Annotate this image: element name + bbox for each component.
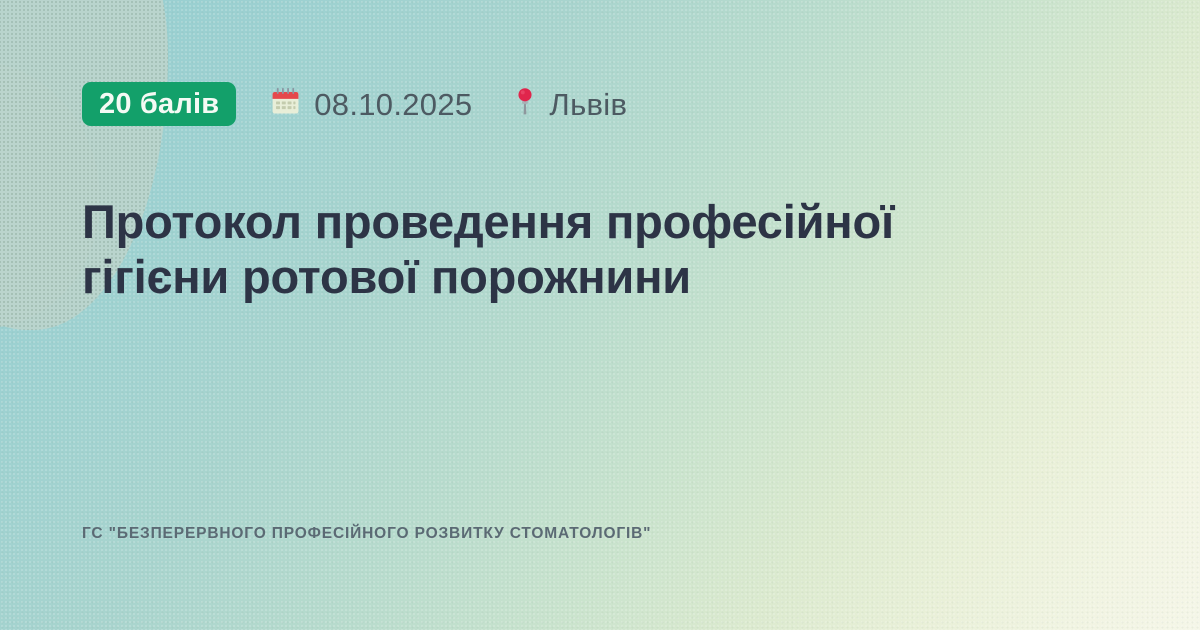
event-title-line-2: гігієни ротової порожнини <box>82 250 691 303</box>
event-location-text: Львів <box>549 89 627 120</box>
meta-row: 20 балів <box>82 80 1120 128</box>
round-pushpin-icon <box>514 86 536 122</box>
title-wrap: Протокол проведення професійноїгігієни р… <box>82 194 1120 305</box>
card-content: 20 балів <box>0 0 1200 630</box>
calendar-icon <box>270 86 301 122</box>
event-title: Протокол проведення професійноїгігієни р… <box>82 194 1092 305</box>
organizer-name: ГС "БЕЗПЕРЕРВНОГО ПРОФЕСІЙНОГО РОЗВИТКУ … <box>82 525 1120 544</box>
event-date: 08.10.2025 <box>270 86 472 122</box>
event-card: 20 балів <box>0 0 1200 630</box>
points-badge: 20 балів <box>82 82 236 126</box>
event-location: Львів <box>514 86 627 122</box>
card-footer: ГС "БЕЗПЕРЕРВНОГО ПРОФЕСІЙНОГО РОЗВИТКУ … <box>82 525 1120 544</box>
event-date-text: 08.10.2025 <box>314 89 472 120</box>
event-title-line-1: Протокол проведення професійної <box>82 195 894 248</box>
